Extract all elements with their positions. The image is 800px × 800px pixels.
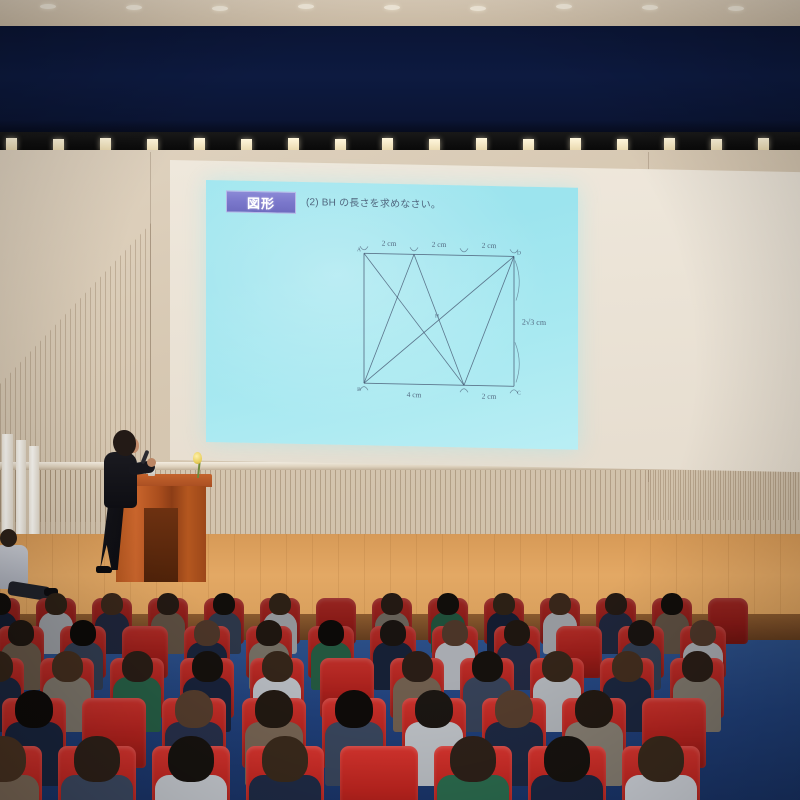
seated-audience [0, 596, 800, 800]
audience-member-head [157, 593, 179, 615]
figure-cevian-DG [464, 255, 514, 386]
podium-recess [144, 508, 178, 582]
audience-member-head [575, 690, 613, 728]
dimension-tick [410, 247, 418, 251]
wall-seam-left [150, 152, 151, 482]
audience-member-head [495, 690, 533, 728]
ceiling-valance [0, 26, 800, 138]
geometry-svg: ADBCH2 cm2 cm2 cm4 cm2 cm2√3 cm [346, 231, 561, 436]
dimension-label-right: 2√3 cm [522, 318, 547, 328]
audience-member-head [262, 651, 293, 682]
audience-member-head [74, 736, 120, 782]
audience-member-head [381, 593, 403, 615]
audience-member-head [52, 651, 83, 682]
audience-member-head [450, 736, 496, 782]
audience-member-head [402, 651, 433, 682]
vertex-label-A: A [357, 247, 361, 253]
ceiling-downlight [728, 6, 744, 11]
audience-member-head [549, 593, 571, 615]
audience-member-head [472, 651, 503, 682]
ceiling-downlight [212, 6, 228, 11]
presenter-head [113, 430, 136, 456]
dimension-brace-right [515, 260, 519, 300]
dimension-tick [360, 387, 368, 391]
presenter-hand [147, 458, 156, 467]
dimension-tick [360, 246, 368, 250]
audience-member-head [255, 690, 293, 728]
audience-member-head [628, 620, 654, 646]
audience-member-head [45, 593, 67, 615]
dimension-brace-right [515, 342, 519, 382]
ceiling-downlight [40, 4, 56, 9]
audience-member-head [437, 593, 459, 615]
seated-attendee-head [0, 529, 17, 547]
audience-member-head [605, 593, 627, 615]
geometry-figure: ADBCH2 cm2 cm2 cm4 cm2 cm2√3 cm [346, 231, 561, 436]
lecture-hall-photo: 図形 (2) BH の長さを求めなさい。 ADBCH2 cm2 cm2 cm4 … [0, 0, 800, 800]
figure-diagonal-BD [364, 253, 514, 386]
audience-member-head [415, 690, 453, 728]
figure-side-top [364, 253, 514, 256]
audience-member-head [682, 651, 713, 682]
audience-member-head [262, 736, 308, 782]
audience-member-head [192, 651, 223, 682]
audience-member-head [101, 593, 123, 615]
dimension-label-bottom-2: 2 cm [482, 392, 497, 401]
dimension-label-top-3: 2 cm [482, 241, 497, 250]
auditorium-seat [340, 746, 418, 800]
audience-member-head [168, 736, 214, 782]
audience-member-head [493, 593, 515, 615]
presenter-torso [104, 452, 137, 508]
audience-member-head [380, 620, 406, 646]
figure-cevian-AG [364, 253, 464, 385]
figure-cevian-EB [364, 253, 414, 384]
ceiling-downlight [298, 4, 314, 9]
audience-member-head [256, 620, 282, 646]
audience-member-head [504, 620, 530, 646]
presenter-shoe [96, 566, 112, 573]
dimension-label-top-2: 2 cm [432, 240, 447, 249]
ceiling-downlight [126, 5, 142, 10]
ceiling-downlight [384, 5, 400, 10]
ceiling-downlight [556, 4, 572, 9]
audience-member-head [269, 593, 291, 615]
slide-category-badge: 図形 [226, 190, 296, 213]
audience-member-head [318, 620, 344, 646]
audience-member-head [175, 690, 213, 728]
projected-slide: 図形 (2) BH の長さを求めなさい。 ADBCH2 cm2 cm2 cm4 … [206, 180, 578, 450]
ceiling-downlight [470, 6, 486, 11]
ceiling-downlight [642, 5, 658, 10]
slide-question-text: (2) BH の長さを求めなさい。 [306, 193, 441, 211]
audience-member-head [544, 736, 590, 782]
dimension-tick [460, 248, 468, 252]
audience-member-head [661, 593, 683, 615]
audience-member-head [15, 690, 53, 728]
figure-side-bottom [364, 383, 514, 386]
audience-member-head [335, 690, 373, 728]
audience-member-head [612, 651, 643, 682]
audience-member-head [542, 651, 573, 682]
vertex-label-H: H [435, 313, 439, 319]
vertex-label-B: B [357, 387, 361, 393]
dimension-label-bottom-1: 4 cm [407, 390, 422, 399]
vertex-label-D: D [517, 251, 521, 257]
dimension-label-top-1: 2 cm [382, 239, 397, 248]
audience-member-head [442, 620, 468, 646]
audience-member-head [638, 736, 684, 782]
audience-member-head [690, 620, 716, 646]
audience-member-head [8, 620, 34, 646]
audience-member-head [213, 593, 235, 615]
audience-member-head [70, 620, 96, 646]
podium-flower [193, 452, 202, 464]
audience-member-head [194, 620, 220, 646]
audience-member-head [122, 651, 153, 682]
dimension-tick [460, 389, 468, 393]
